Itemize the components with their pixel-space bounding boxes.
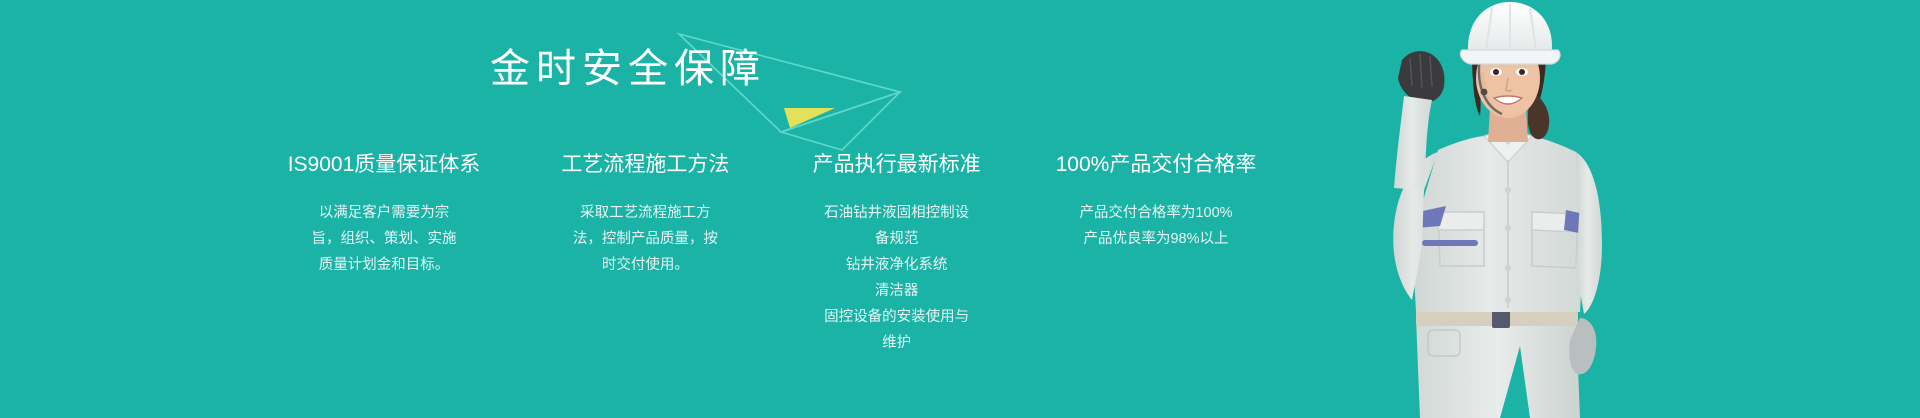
feature-heading-2: 工艺流程施工方法 bbox=[545, 150, 745, 180]
feature-body-line: 产品优良率为98%以上 bbox=[1048, 226, 1264, 252]
feature-body-3: 石油钻井液固相控制设 备规范 钻井液净化系统 清洁器 固控设备的安装使用与 维护 bbox=[799, 200, 995, 356]
worker-pupil-right bbox=[1519, 69, 1525, 75]
feature-column-3: 产品执行最新标准 石油钻井液固相控制设 备规范 钻井液净化系统 清洁器 固控设备… bbox=[793, 150, 1001, 356]
feature-body-line: 旨，组织、策划、实施 bbox=[276, 226, 492, 252]
worker-button bbox=[1505, 265, 1511, 271]
worker-stripe bbox=[1422, 240, 1478, 246]
feature-body-4: 产品交付合格率为100% 产品优良率为98%以上 bbox=[1048, 200, 1264, 252]
feature-columns: IS9001质量保证体系 以满足客户需要为宗 旨，组织、策划、实施 质量计划金和… bbox=[270, 150, 1270, 356]
feature-body-line: 法，控制产品质量，按 bbox=[545, 226, 745, 252]
feature-body-line: 维护 bbox=[799, 330, 995, 356]
feature-body-line: 产品交付合格率为100% bbox=[1048, 200, 1264, 226]
feature-heading-1: IS9001质量保证体系 bbox=[276, 150, 492, 180]
feature-body-line: 采取工艺流程施工方 bbox=[545, 200, 745, 226]
feature-column-1: IS9001质量保证体系 以满足客户需要为宗 旨，组织、策划、实施 质量计划金和… bbox=[270, 150, 498, 278]
page-title: 金时安全保障 bbox=[484, 42, 766, 96]
worker-left-arm bbox=[1576, 152, 1602, 314]
worker-photo bbox=[1380, 0, 1640, 418]
feature-body-line: 石油钻井液固相控制设 bbox=[799, 200, 995, 226]
feature-heading-4: 100%产品交付合格率 bbox=[1048, 150, 1264, 180]
worker-strap-clip bbox=[1481, 89, 1488, 96]
yellow-triangle bbox=[784, 108, 835, 128]
worker-button bbox=[1505, 187, 1511, 193]
feature-body-line: 以满足客户需要为宗 bbox=[276, 200, 492, 226]
feature-body-line: 备规范 bbox=[799, 226, 995, 252]
feature-body-1: 以满足客户需要为宗 旨，组织、策划、实施 质量计划金和目标。 bbox=[276, 200, 492, 278]
feature-body-line: 钻井液净化系统 bbox=[799, 252, 995, 278]
worker-button bbox=[1505, 225, 1511, 231]
worker-button bbox=[1505, 297, 1511, 303]
worker-hard-hat-brim bbox=[1460, 50, 1560, 64]
worker-pocket-flap-left bbox=[1438, 212, 1484, 230]
feature-column-2: 工艺流程施工方法 采取工艺流程施工方 法，控制产品质量，按 时交付使用。 bbox=[539, 150, 751, 278]
feature-heading-3: 产品执行最新标准 bbox=[799, 150, 995, 180]
feature-body-2: 采取工艺流程施工方 法，控制产品质量，按 时交付使用。 bbox=[545, 200, 745, 278]
safety-assurance-banner: 金时安全保障 IS9001质量保证体系 以满足客户需要为宗 旨，组织、策划、实施… bbox=[0, 0, 1920, 418]
feature-body-line: 时交付使用。 bbox=[545, 252, 745, 278]
feature-body-line: 质量计划金和目标。 bbox=[276, 252, 492, 278]
feature-body-line: 清洁器 bbox=[799, 278, 995, 304]
worker-trousers bbox=[1416, 318, 1580, 418]
triangle-outline-small bbox=[781, 92, 900, 150]
worker-pupil-left bbox=[1493, 69, 1499, 75]
feature-body-line: 固控设备的安装使用与 bbox=[799, 304, 995, 330]
feature-column-4: 100%产品交付合格率 产品交付合格率为100% 产品优良率为98%以上 bbox=[1042, 150, 1270, 252]
title-block: 金时安全保障 bbox=[0, 42, 1250, 96]
